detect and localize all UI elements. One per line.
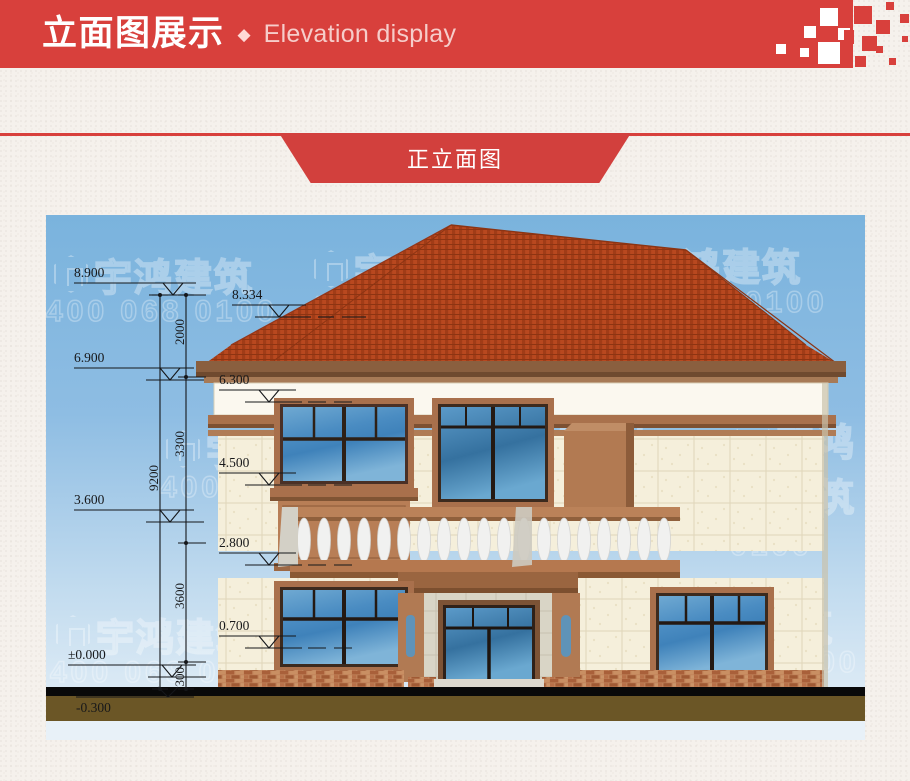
header-title-group: 立面图展示 ◆ Elevation display bbox=[42, 0, 456, 68]
below-ground-fill bbox=[46, 721, 865, 740]
page-title-en: Elevation display bbox=[264, 22, 457, 47]
earth-band bbox=[46, 696, 865, 721]
diamond-icon: ◆ bbox=[238, 26, 251, 43]
eave-fascia bbox=[196, 361, 846, 383]
elevation-drawing-canvas: 宇鸿建筑 400 068 0100 宇鸿建筑 400 068 0100 宇鸿建筑… bbox=[46, 215, 865, 740]
roof bbox=[206, 225, 836, 363]
second-floor-left-window bbox=[270, 398, 418, 501]
house-elevation-illustration bbox=[46, 215, 865, 740]
section-ribbon: 正立面图 bbox=[279, 133, 631, 183]
first-floor-right-window bbox=[644, 587, 780, 683]
first-floor-left-window bbox=[268, 581, 420, 678]
section-title: 正立面图 bbox=[407, 142, 503, 174]
page-title-cn: 立面图展示 bbox=[42, 17, 225, 52]
pixel-mosaic-decoration bbox=[750, 0, 910, 68]
page-header: 立面图展示 ◆ Elevation display bbox=[0, 0, 910, 68]
ground-line bbox=[46, 687, 865, 696]
